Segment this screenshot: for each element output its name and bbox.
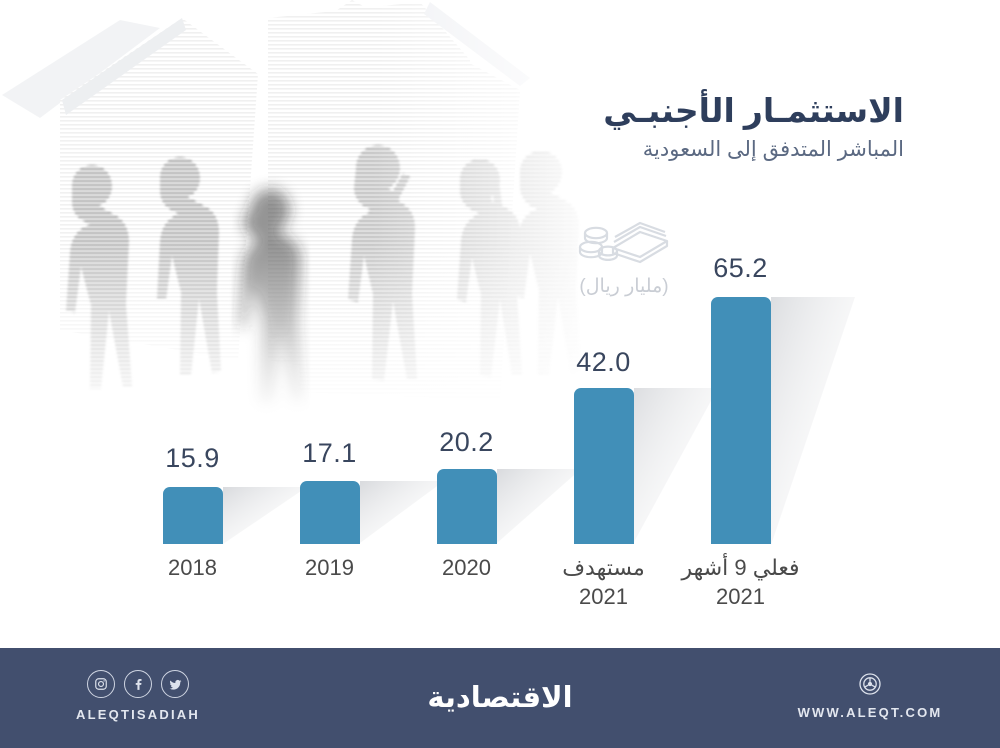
bar-shadow [763,291,855,545]
footer-bar: ALEQTISADIAH الاقتصادية WWW.ALEQT.COM [0,648,1000,748]
globe-icon [770,672,970,696]
bar-shape [711,297,771,544]
site-url: WWW.ALEQT.COM [770,705,970,720]
bar-shape [300,481,360,544]
footer-site-block: WWW.ALEQT.COM [770,672,970,720]
bar-shadow [489,463,581,543]
bar-shape [574,388,634,544]
bar-tick-label: 2020 [398,554,535,583]
bar-value-label: 15.9 [124,443,261,474]
bar-shape [163,487,223,544]
bar-tick-line1: فعلي 9 أشهر [681,555,799,580]
bar-value-label: 20.2 [398,427,535,458]
bar-tick-line1: مستهدف [562,555,645,580]
infographic-page: الاستثمـار الأجنبـي المباشر المتدفق إلى … [0,0,1000,748]
bar-shadow [352,475,444,543]
bar-tick-line2: 2021 [535,583,672,612]
bar-shape [437,469,497,544]
bar-value-label: 42.0 [535,347,672,378]
bar-tick-line1: 2019 [305,555,354,580]
bar-tick-label: فعلي 9 أشهر 2021 [672,554,809,611]
bar-value-label: 65.2 [672,253,809,284]
bar-value-label: 17.1 [261,438,398,469]
bar-shadow [626,382,718,542]
bar-shadow [215,481,307,545]
bar-tick-line1: 2020 [442,555,491,580]
bar-tick-label: مستهدف 2021 [535,554,672,611]
bar-tick-label: 2019 [261,554,398,583]
bar-tick-line1: 2018 [168,555,217,580]
bar-tick-label: 2018 [124,554,261,583]
bar-tick-line2: 2021 [672,583,809,612]
bar-chart: 15.9 2018 17.1 2019 [0,0,1000,648]
